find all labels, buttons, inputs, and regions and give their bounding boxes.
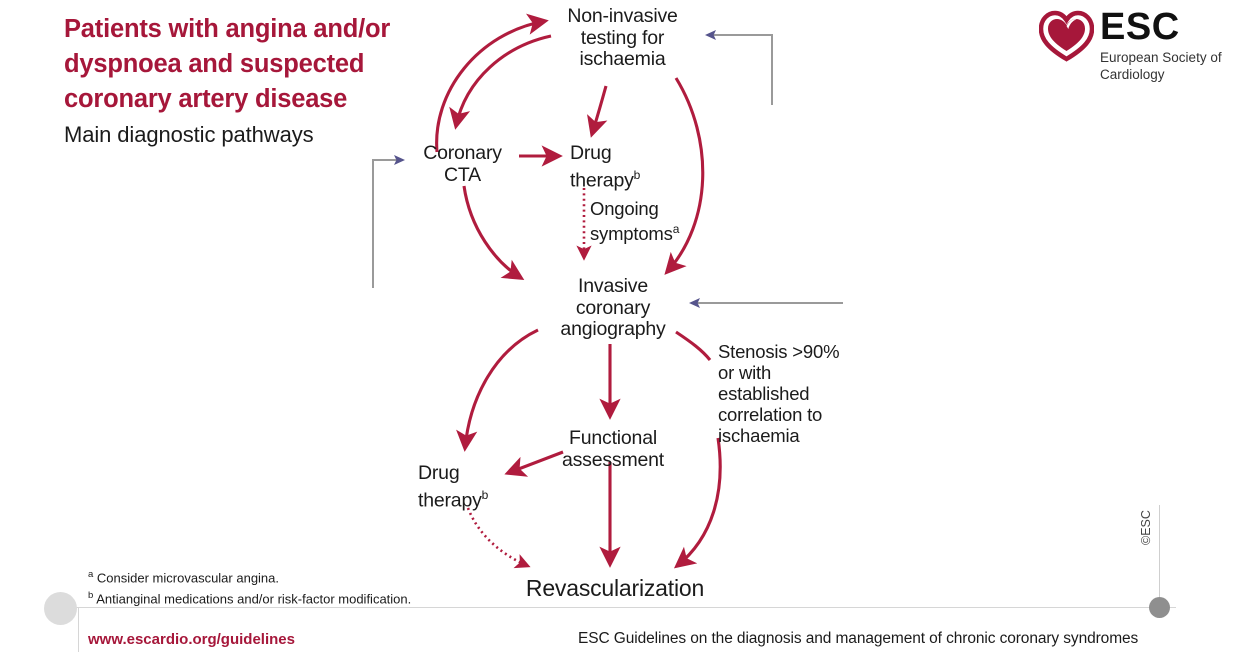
node-coronary-cta[interactable]: Coronary CTA <box>415 143 510 186</box>
node-invasive-coronary-angiography[interactable]: Invasive coronary angiography <box>543 276 683 341</box>
copyright-label: ©ESC <box>1139 510 1153 545</box>
annotation-ongoing-symptoms: Ongoing symptomsa <box>590 198 720 244</box>
footnote-marker-b2: b <box>482 488 488 502</box>
annotation-stenosis-criteria: Stenosis >90% or with established correl… <box>718 341 868 446</box>
footnote-b: b Antianginal medications and/or risk-fa… <box>88 587 411 608</box>
decorative-circle-left <box>44 592 77 625</box>
footnotes: a Consider microvascular angina. b Antia… <box>88 566 411 608</box>
arrow-cta-to-ica <box>464 186 521 278</box>
arrow-title-to-noninvasive <box>437 21 545 152</box>
footnote-b-marker: b <box>88 590 93 601</box>
node-revascularization[interactable]: Revascularization <box>500 578 730 600</box>
node-functional-assessment[interactable]: Functional assessment <box>548 428 678 471</box>
footnote-marker-b: b <box>634 168 640 182</box>
arrow-noninvasive-to-cta <box>456 36 551 126</box>
footer-divider <box>62 607 1176 608</box>
node-non-invasive-testing[interactable]: Non-invasive testing for ischaemia <box>555 6 690 71</box>
node-drug-therapy-bottom-label: Drug therapy <box>418 462 482 511</box>
arrow-drug-to-revasc-dotted <box>468 508 528 566</box>
footer-url-link[interactable]: www.escardio.org/guidelines <box>88 631 295 648</box>
annotation-ongoing-symptoms-label: Ongoing symptoms <box>590 198 673 244</box>
footnote-a-marker: a <box>88 569 93 580</box>
arrow-ica-to-drug-bottom <box>465 330 538 448</box>
footnote-marker-a: a <box>673 222 679 236</box>
connector-to-noninvasive <box>707 35 772 105</box>
node-drug-therapy-top[interactable]: Drug therapyb <box>570 143 670 192</box>
copyright-divider <box>1159 505 1160 601</box>
footer-guideline-title: ESC Guidelines on the diagnosis and mana… <box>578 630 1138 648</box>
decorative-circle-right <box>1149 597 1170 618</box>
arrow-stenosis-to-revasc <box>677 438 720 566</box>
footer-vertical-divider <box>78 607 79 652</box>
footnote-b-text: Antianginal medications and/or risk-fact… <box>96 591 411 606</box>
node-drug-therapy-top-label: Drug therapy <box>570 142 634 191</box>
footnote-a-text: Consider microvascular angina. <box>97 570 279 585</box>
node-drug-therapy-bottom[interactable]: Drug therapyb <box>418 463 513 512</box>
connector-to-cta <box>373 160 403 288</box>
slide-canvas: Patients with angina and/or dyspnoea and… <box>0 0 1258 652</box>
footnote-a: a Consider microvascular angina. <box>88 566 411 587</box>
arrow-noninvasive-to-drug <box>592 86 606 134</box>
